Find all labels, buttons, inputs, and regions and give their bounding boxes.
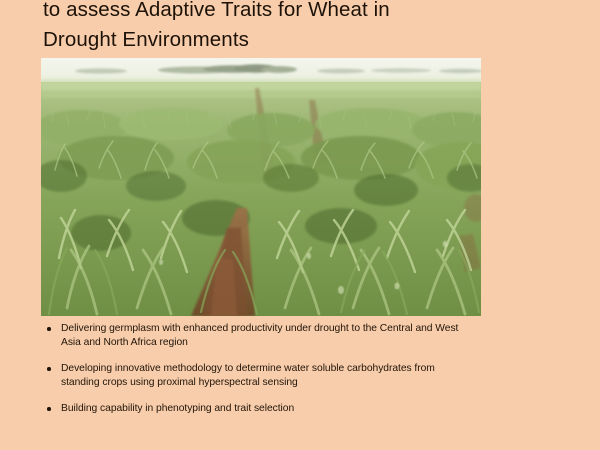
bullet-dot-icon xyxy=(47,367,51,371)
presentation-slide: to assess Adaptive Traits for Wheat in D… xyxy=(0,0,600,450)
slide-title: to assess Adaptive Traits for Wheat in D… xyxy=(43,0,563,55)
wheat-field-photo xyxy=(41,58,481,316)
bullet-text: Building capability in phenotyping and t… xyxy=(61,402,465,416)
bullet-dot-icon xyxy=(47,407,51,411)
list-item: Developing innovative methodology to det… xyxy=(45,362,465,390)
bullet-text: Developing innovative methodology to det… xyxy=(61,362,465,390)
bullet-text: Delivering germplasm with enhanced produ… xyxy=(61,322,465,350)
slide-title-line-2: Drought Environments xyxy=(43,25,563,55)
list-item: Building capability in phenotyping and t… xyxy=(45,402,465,416)
bullet-list: Delivering germplasm with enhanced produ… xyxy=(45,322,465,416)
list-item: Delivering germplasm with enhanced produ… xyxy=(45,322,465,350)
wheat-field-illustration xyxy=(41,58,481,316)
bullet-dot-icon xyxy=(47,327,51,331)
slide-title-line-1: to assess Adaptive Traits for Wheat in xyxy=(43,0,563,25)
